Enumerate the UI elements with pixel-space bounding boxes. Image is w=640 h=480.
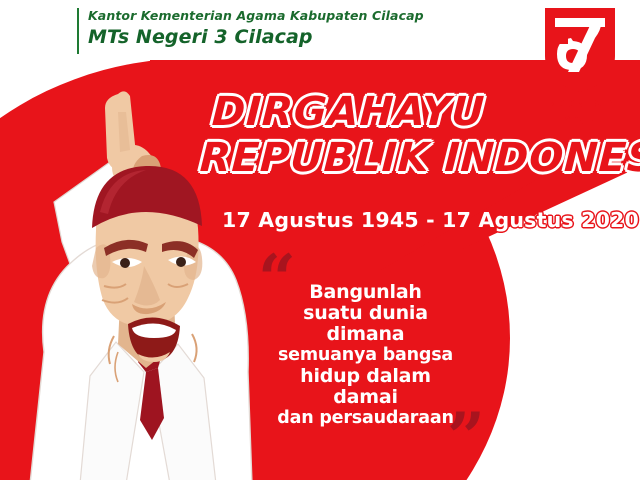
quote-line: Bangunlah: [258, 282, 473, 303]
quote-line: damai: [258, 387, 473, 408]
quote-lines: Bangunlah suatu dunia dimana semuanya ba…: [258, 262, 473, 429]
poster-canvas: DIRGAHAYU REPUBLIK INDONESIA 17 Agustus …: [0, 0, 640, 480]
header-school-name: MTs Negeri 3 Cilacap: [88, 25, 424, 49]
headline-line-2: REPUBLIK INDONESIA: [199, 138, 640, 178]
header-divider: [77, 8, 79, 54]
quote-line: dan persaudaraan: [258, 408, 473, 429]
logo75-caption-indonesia: INDONESIA: [534, 99, 626, 111]
dateline-segment-white: 17 Agustus 1945 - 17: [222, 208, 471, 232]
indonesia-75-logo: INDONESIA MAJU: [534, 4, 626, 134]
logo75-caption-maju: MAJU: [534, 114, 626, 126]
quote-block: “ ” Bangunlah suatu dunia dimana semuany…: [258, 262, 473, 429]
header-text-group: Kantor Kementerian Agama Kabupaten Cilac…: [88, 8, 424, 49]
dateline-segment-outlined: Agustus 2020: [471, 208, 639, 232]
dateline: 17 Agustus 1945 - 17 Agustus 2020: [222, 208, 639, 232]
quote-line: hidup dalam: [258, 366, 473, 387]
quote-line: suatu dunia: [258, 303, 473, 324]
header-office-name: Kantor Kementerian Agama Kabupaten Cilac…: [88, 8, 424, 24]
indonesia-75-shield-icon: [541, 4, 619, 96]
quote-line: semuanya bangsa: [258, 345, 473, 366]
quote-line: dimana: [258, 324, 473, 345]
